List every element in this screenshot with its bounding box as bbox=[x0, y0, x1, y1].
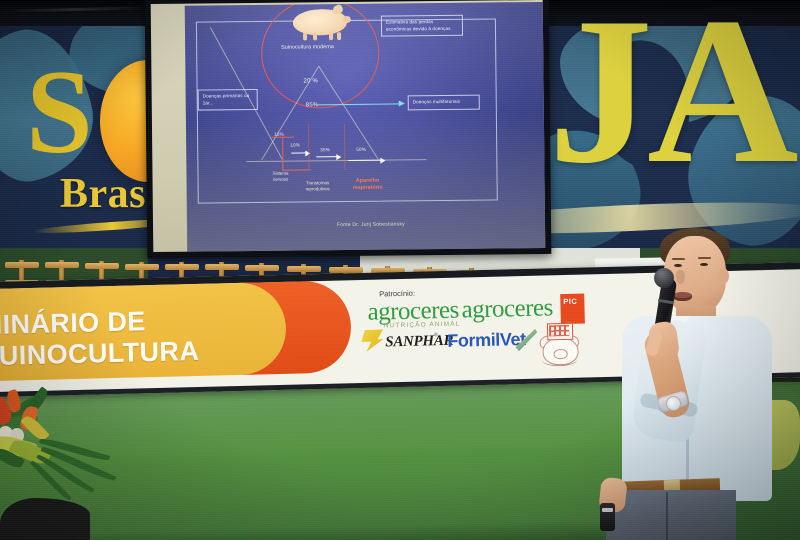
agroceres-tagline: NUTRIÇÃO ANIMAL bbox=[384, 321, 461, 330]
remote-clicker-button bbox=[602, 508, 613, 512]
sanphar-mark-icon bbox=[361, 329, 384, 352]
projection-screen: Suinocultura moderna Estimativa das perd… bbox=[145, 0, 552, 258]
projector-glare bbox=[185, 2, 546, 252]
sanphar-logo: SANPHAR bbox=[385, 333, 453, 352]
projected-slide: Suinocultura moderna Estimativa das perd… bbox=[185, 2, 546, 252]
pig-mascot-logo bbox=[537, 323, 582, 366]
screen-surface: Suinocultura moderna Estimativa das perd… bbox=[151, 0, 546, 252]
speaker-mouth bbox=[673, 292, 692, 301]
formilvet-logo: FormilVet bbox=[447, 329, 526, 352]
registered-mark: ® bbox=[434, 332, 438, 338]
photo-scene: S Brasil JA Suinocultura mo bbox=[0, 0, 800, 540]
ja-letters: JA bbox=[548, 0, 793, 196]
ceiling-beam bbox=[0, 6, 150, 12]
agroceres-logo: agroceres bbox=[461, 294, 553, 324]
pic-logo-text: PIC bbox=[563, 297, 577, 306]
speaker-ear bbox=[718, 268, 729, 284]
event-title: MINÁRIO DE SUINOCULTURA bbox=[0, 302, 311, 372]
logo-letter-s: S bbox=[26, 52, 93, 172]
speaker-nose bbox=[676, 270, 685, 284]
trouser-seam bbox=[666, 492, 668, 540]
tropical-flower-arrangement-icon bbox=[0, 382, 172, 532]
